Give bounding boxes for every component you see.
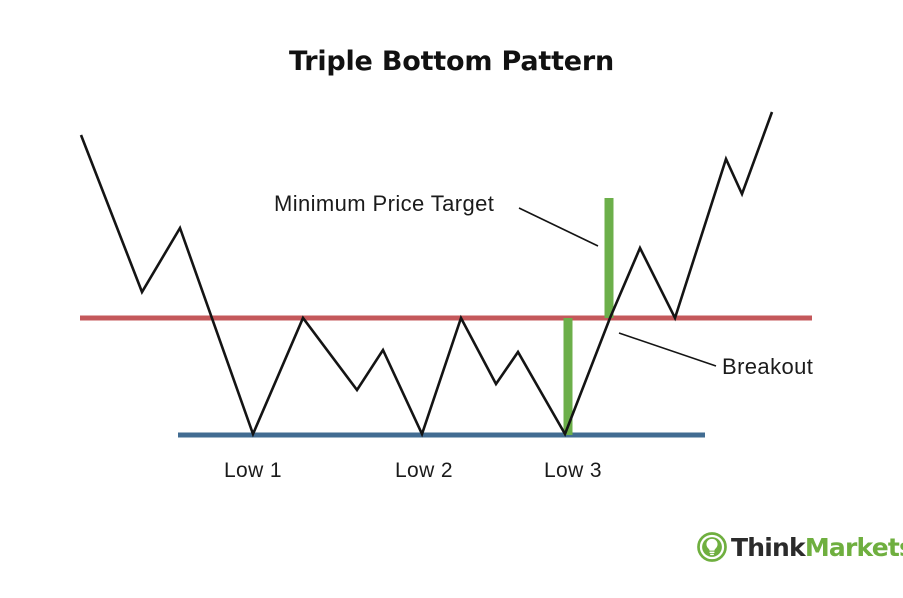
chart-canvas: Triple Bottom Pattern Minimum Price Targ… (0, 0, 903, 598)
label-low-2: Low 2 (395, 459, 453, 483)
logo-wordmark: ThinkMarkets® (731, 535, 903, 560)
chart-plot-area (0, 0, 903, 598)
leader-line-minimum-price-target (519, 208, 598, 246)
label-low-1: Low 1 (224, 459, 282, 483)
annotation-minimum-price-target: Minimum Price Target (274, 191, 494, 217)
price-line-price (81, 112, 772, 434)
logo-word-markets: Markets (805, 533, 903, 562)
annotation-breakout: Breakout (722, 354, 813, 380)
reference-lines-group (80, 318, 812, 435)
logo-word-think: Think (731, 533, 805, 562)
price-series-group (81, 112, 772, 434)
label-low-3: Low 3 (544, 459, 602, 483)
lightbulb-in-circle-icon (697, 532, 727, 562)
thinkmarkets-logo: ThinkMarkets® (697, 532, 903, 562)
annotation-leader-lines-group (519, 208, 716, 366)
leader-line-breakout (619, 333, 716, 366)
